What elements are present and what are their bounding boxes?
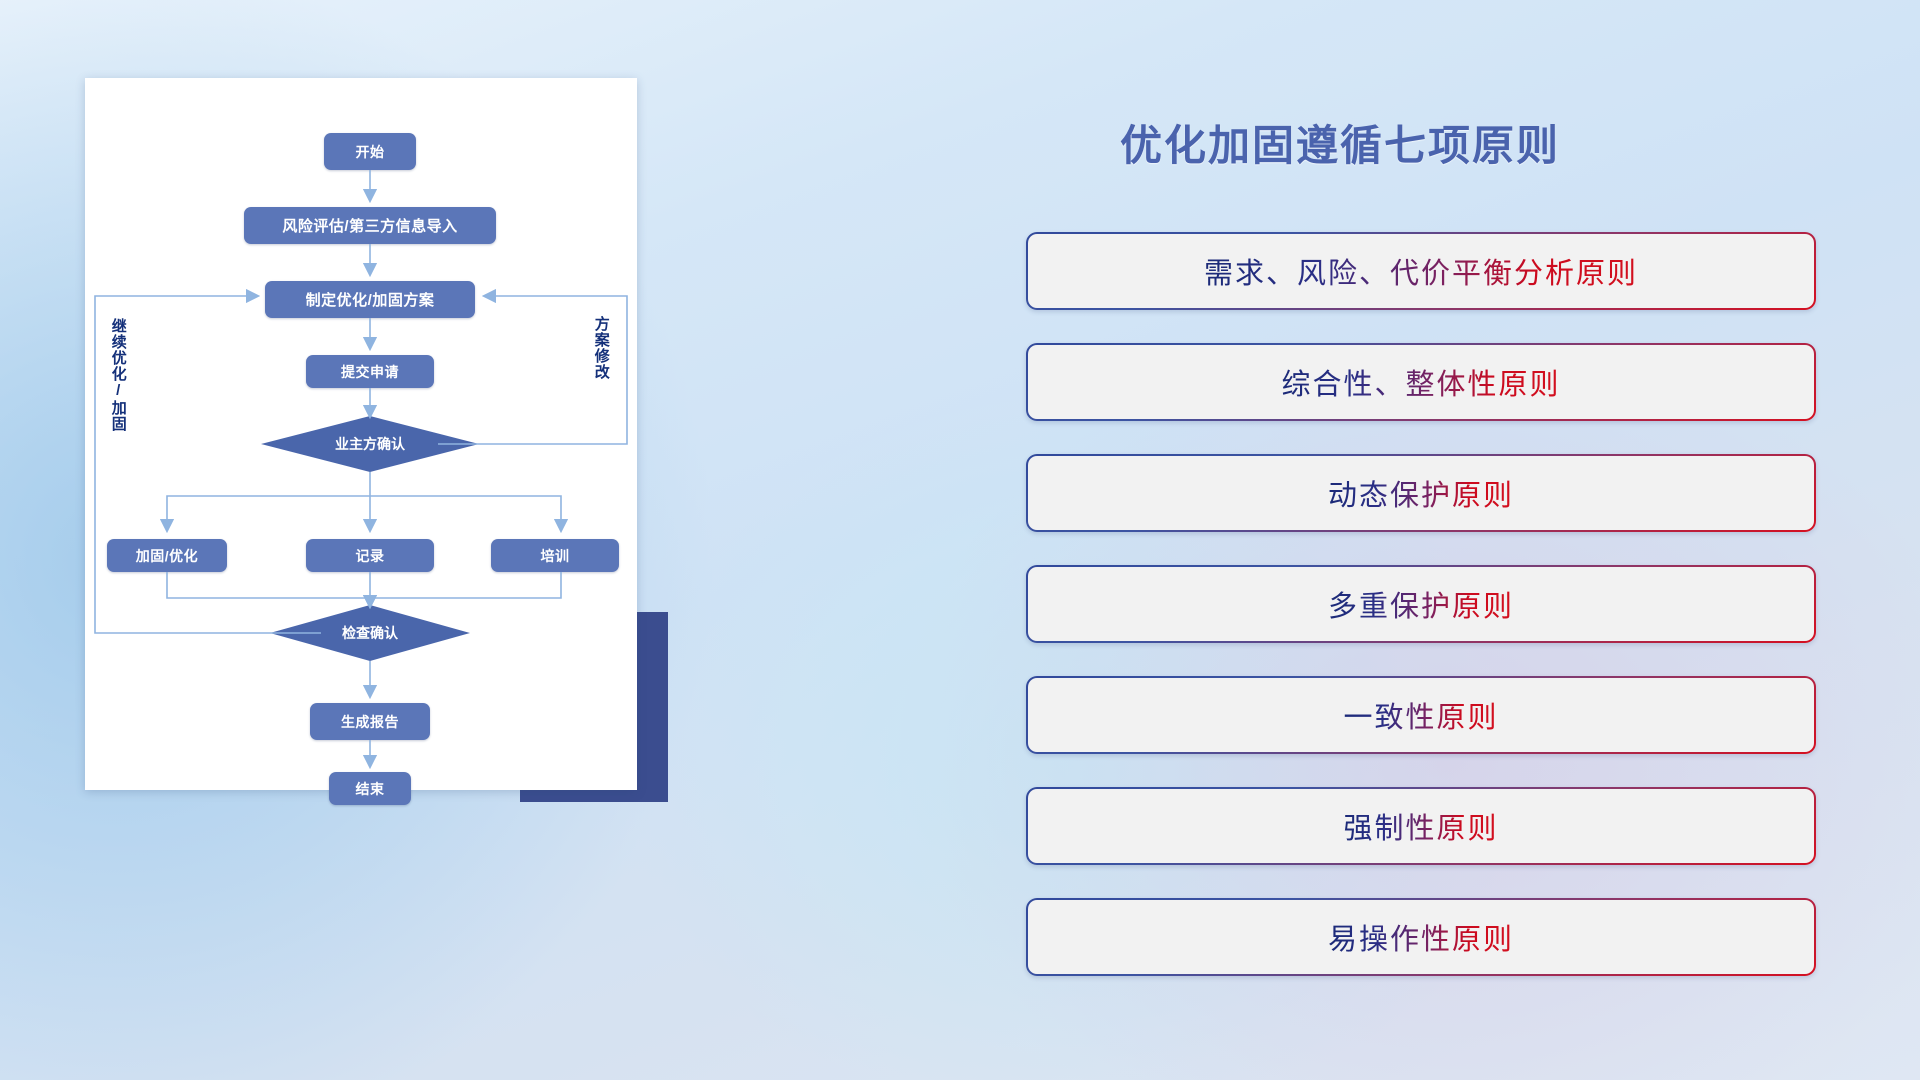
flow-node-check-confirm[interactable]: 检查确认: [270, 605, 470, 661]
flow-label-continue-optimize: 继续优化/加固: [110, 318, 126, 458]
flow-label-plan-revision: 方案修改: [593, 316, 609, 416]
principles-panel: 优化加固遵循七项原则 需求、风险、代价平衡分析原则综合性、整体性原则动态保护原则…: [1020, 0, 1920, 1080]
principle-card-inner: 易操作性原则: [1028, 900, 1814, 974]
flow-node-reinforce-optimize[interactable]: 加固/优化: [107, 539, 227, 572]
principle-card[interactable]: 综合性、整体性原则: [1026, 343, 1816, 421]
flowchart-canvas: 开始 风险评估/第三方信息导入 制定优化/加固方案 提交申请 业主方确认 加固/…: [85, 78, 637, 790]
principle-label: 综合性、整体性原则: [1281, 361, 1560, 403]
principle-label: 需求、风险、代价平衡分析原则: [1204, 250, 1638, 292]
principle-card[interactable]: 多重保护原则: [1026, 565, 1816, 643]
principle-label: 多重保护原则: [1328, 583, 1514, 625]
flow-node-risk-assessment[interactable]: 风险评估/第三方信息导入: [244, 207, 496, 244]
flow-node-generate-report[interactable]: 生成报告: [310, 703, 430, 740]
principle-card[interactable]: 强制性原则: [1026, 787, 1816, 865]
flow-node-end[interactable]: 结束: [329, 772, 411, 805]
flow-node-start[interactable]: 开始: [324, 133, 416, 170]
panel-title: 优化加固遵循七项原则: [1020, 112, 1660, 173]
flow-node-make-plan[interactable]: 制定优化/加固方案: [265, 281, 475, 318]
principle-card-inner: 一致性原则: [1028, 678, 1814, 752]
principle-card-inner: 多重保护原则: [1028, 567, 1814, 641]
principle-card-inner: 强制性原则: [1028, 789, 1814, 863]
flow-node-owner-confirm[interactable]: 业主方确认: [261, 416, 479, 472]
principle-card-inner: 需求、风险、代价平衡分析原则: [1028, 234, 1814, 308]
principle-card[interactable]: 一致性原则: [1026, 676, 1816, 754]
principle-card[interactable]: 需求、风险、代价平衡分析原则: [1026, 232, 1816, 310]
principle-card-inner: 综合性、整体性原则: [1028, 345, 1814, 419]
principle-label: 动态保护原则: [1328, 472, 1514, 514]
principle-card-inner: 动态保护原则: [1028, 456, 1814, 530]
principle-card[interactable]: 动态保护原则: [1026, 454, 1816, 532]
flow-node-training[interactable]: 培训: [491, 539, 619, 572]
flow-node-record[interactable]: 记录: [306, 539, 434, 572]
principle-card[interactable]: 易操作性原则: [1026, 898, 1816, 976]
flowchart-card: 开始 风险评估/第三方信息导入 制定优化/加固方案 提交申请 业主方确认 加固/…: [85, 78, 637, 790]
principles-list: 需求、风险、代价平衡分析原则综合性、整体性原则动态保护原则多重保护原则一致性原则…: [1026, 232, 1816, 1009]
flow-node-submit-application[interactable]: 提交申请: [306, 355, 434, 388]
principle-label: 一致性原则: [1343, 694, 1498, 736]
principle-label: 强制性原则: [1343, 805, 1498, 847]
principle-label: 易操作性原则: [1328, 916, 1514, 958]
